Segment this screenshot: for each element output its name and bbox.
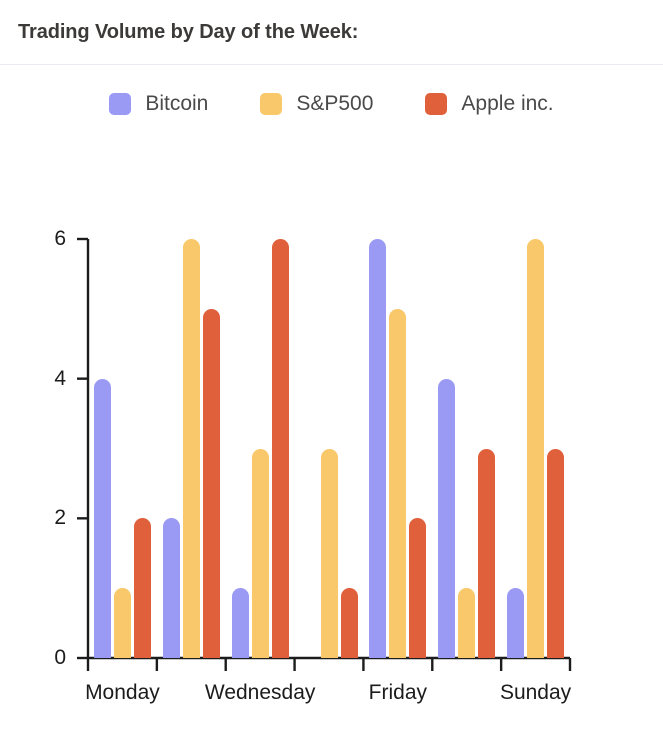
bar[interactable] [321,449,338,659]
bar[interactable] [389,309,406,658]
bar[interactable] [507,588,524,658]
y-tick-label: 6 [26,227,66,251]
legend-label: S&P500 [296,92,373,116]
plot-area: 0246 MondayWednesdayFridaySunday [0,130,663,752]
chart-card: Trading Volume by Day of the Week: Bitco… [0,0,663,752]
bar[interactable] [272,239,289,658]
bars-layer [0,130,663,752]
legend-label: Apple inc. [461,92,553,116]
bar[interactable] [183,239,200,658]
legend-swatch-icon [425,93,447,115]
bar[interactable] [114,588,131,658]
bar[interactable] [134,518,151,658]
y-tick-label: 0 [26,646,66,670]
x-tick-label: Friday [369,681,427,705]
bar[interactable] [458,588,475,658]
bar[interactable] [252,449,269,659]
x-tick-label: Monday [85,681,160,705]
bar[interactable] [527,239,544,658]
page-title: Trading Volume by Day of the Week: [18,21,358,44]
chart-header: Trading Volume by Day of the Week: [0,0,663,65]
legend-label: Bitcoin [145,92,208,116]
legend-item-bitcoin[interactable]: Bitcoin [109,92,208,116]
bar[interactable] [438,379,455,658]
bar[interactable] [232,588,249,658]
bar[interactable] [203,309,220,658]
legend-swatch-icon [109,93,131,115]
bar[interactable] [341,588,358,658]
bar[interactable] [547,449,564,659]
x-tick-label: Wednesday [205,681,316,705]
chart-legend: Bitcoin S&P500 Apple inc. [0,65,663,136]
bar[interactable] [369,239,386,658]
bar[interactable] [163,518,180,658]
y-tick-label: 4 [26,367,66,391]
bar[interactable] [94,379,111,658]
legend-swatch-icon [260,93,282,115]
bar[interactable] [409,518,426,658]
legend-item-sp500[interactable]: S&P500 [260,92,373,116]
legend-item-apple-inc[interactable]: Apple inc. [425,92,553,116]
bar[interactable] [478,449,495,659]
y-tick-label: 2 [26,506,66,530]
x-tick-label: Sunday [500,681,571,705]
